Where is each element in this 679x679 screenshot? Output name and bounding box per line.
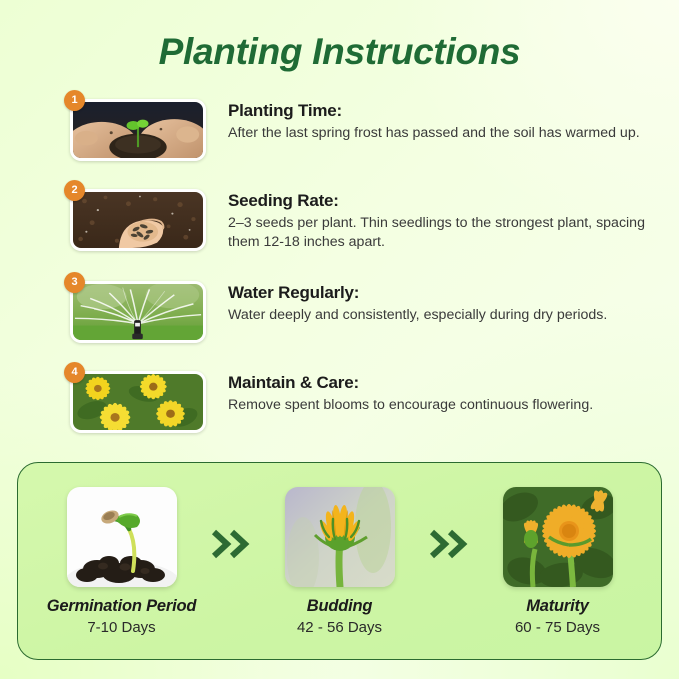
step-number-badge: 3 [64,272,85,293]
step-description: 2–3 seeds per plant. Thin seedlings to t… [228,214,648,253]
step-thumbnail-wrap: 2 [70,189,206,251]
step-item: 3 [70,269,651,343]
mature-yellow-flower-bloom-photo [503,487,613,587]
growth-timeline-panel: Germination Period 7-10 Days [17,462,662,660]
double-chevron-right-icon [202,528,260,560]
step-title: Seeding Rate: [228,191,651,211]
step-item: 4 [70,359,651,433]
step-number-badge: 1 [64,90,85,111]
step-text: Water Regularly: Water deeply and consis… [206,269,651,326]
step-text: Maintain & Care: Remove spent blooms to … [206,359,651,416]
lawn-sprinkler-spraying-water-photo [70,281,206,343]
timeline-stage-days: 42 - 56 Days [260,619,420,636]
double-chevron-right-icon [420,528,478,560]
step-title: Water Regularly: [228,283,651,303]
step-description: After the last spring frost has passed a… [228,124,648,144]
timeline-stage: Maturity 60 - 75 Days [478,487,638,636]
hands-holding-soil-with-sprout-photo [70,99,206,161]
step-item: 1 [70,87,651,161]
step-description: Remove spent blooms to encourage continu… [228,396,648,416]
hand-holding-seeds-over-soil-photo [70,189,206,251]
yellow-flower-bud-photo [285,487,395,587]
step-text: Seeding Rate: 2–3 seeds per plant. Thin … [206,177,651,253]
timeline-stage-name: Maturity [478,597,638,616]
step-thumbnail-wrap: 1 [70,99,206,161]
step-thumbnail-wrap: 3 [70,281,206,343]
step-title: Planting Time: [228,101,651,121]
step-text: Planting Time: After the last spring fro… [206,87,651,144]
step-description: Water deeply and consistently, especiall… [228,306,648,326]
yellow-daisy-flowers-photo [70,371,206,433]
sprouting-seedling-in-soil-photo [67,487,177,587]
step-item: 2 [70,177,651,253]
timeline-stage-name: Budding [260,597,420,616]
timeline-stage-name: Germination Period [42,597,202,616]
step-number-badge: 2 [64,180,85,201]
page-title: Planting Instructions [0,0,679,73]
timeline-stage: Germination Period 7-10 Days [42,487,202,636]
step-thumbnail-wrap: 4 [70,371,206,433]
step-number-badge: 4 [64,362,85,383]
timeline-stage-days: 60 - 75 Days [478,619,638,636]
step-title: Maintain & Care: [228,373,651,393]
timeline-stage-days: 7-10 Days [42,619,202,636]
planting-steps-list: 1 [0,87,679,433]
timeline-stage: Budding 42 - 56 Days [260,487,420,636]
